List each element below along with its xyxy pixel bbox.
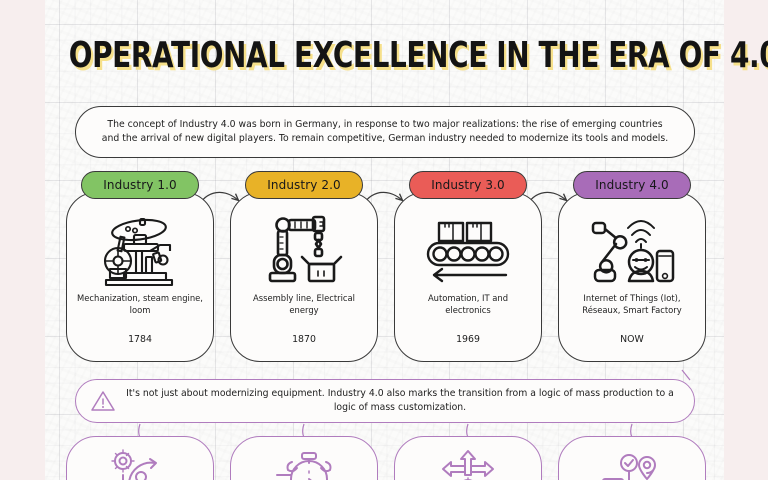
badge-industry-1[interactable]: Industry 1.0	[81, 171, 199, 199]
badge-label: Industry 4.0	[595, 178, 668, 192]
bottom-card-1[interactable]	[66, 436, 214, 480]
intro-callout: The concept of Industry 4.0 was born in …	[75, 106, 695, 158]
timeline-card-industry-2[interactable]: Industry 2.0 Assembly l	[230, 192, 378, 362]
badge-industry-4[interactable]: Industry 4.0	[573, 171, 691, 199]
bottom-card-4[interactable]	[558, 436, 706, 480]
card-year: 1969	[456, 334, 480, 345]
warning-triangle-icon	[90, 389, 116, 413]
card-year: 1784	[128, 334, 152, 345]
conveyor-belt-icon	[422, 213, 514, 287]
badge-industry-3[interactable]: Industry 3.0	[409, 171, 527, 199]
badge-label: Industry 1.0	[103, 178, 176, 192]
gear-worker-cycle-icon	[105, 445, 175, 480]
steam-engine-icon	[94, 213, 186, 287]
card-caption: Internet of Things (Iot), Réseaux, Smart…	[559, 293, 705, 317]
multi-arrow-gear-icon	[433, 445, 503, 480]
card-caption: Mechanization, steam engine, loom	[67, 293, 213, 317]
timeline-card-industry-3[interactable]: Industry 3.0 Automation, IT and electron…	[394, 192, 542, 362]
badge-industry-2[interactable]: Industry 2.0	[245, 171, 363, 199]
stopwatch-icon	[269, 445, 339, 480]
card-caption: Automation, IT and electronics	[395, 293, 541, 317]
robotic-arm-icon	[258, 213, 350, 287]
page-title: OPERATIONAL EXCELLENCE IN THE ERA OF 4.0	[69, 35, 700, 77]
iot-robot-icon	[586, 213, 678, 287]
timeline-card-industry-1[interactable]: Industry 1.0	[66, 192, 214, 362]
card-year: NOW	[620, 334, 644, 345]
bottom-card-3[interactable]	[394, 436, 542, 480]
timeline-card-industry-4[interactable]: Industry 4.0	[558, 192, 706, 362]
badge-label: Industry 2.0	[267, 178, 340, 192]
card-caption: Assembly line, Electrical energy	[231, 293, 377, 317]
badge-label: Industry 3.0	[431, 178, 504, 192]
tracking-location-icon	[597, 445, 667, 480]
intro-text: The concept of Industry 4.0 was born in …	[98, 118, 672, 146]
warning-callout: It's not just about modernizing equipmen…	[75, 379, 695, 423]
bottom-card-2[interactable]	[230, 436, 378, 480]
infographic-frame: OPERATIONAL EXCELLENCE IN THE ERA OF 4.0…	[0, 0, 768, 480]
callout-text: It's not just about modernizing equipmen…	[122, 387, 678, 415]
card-year: 1870	[292, 334, 316, 345]
